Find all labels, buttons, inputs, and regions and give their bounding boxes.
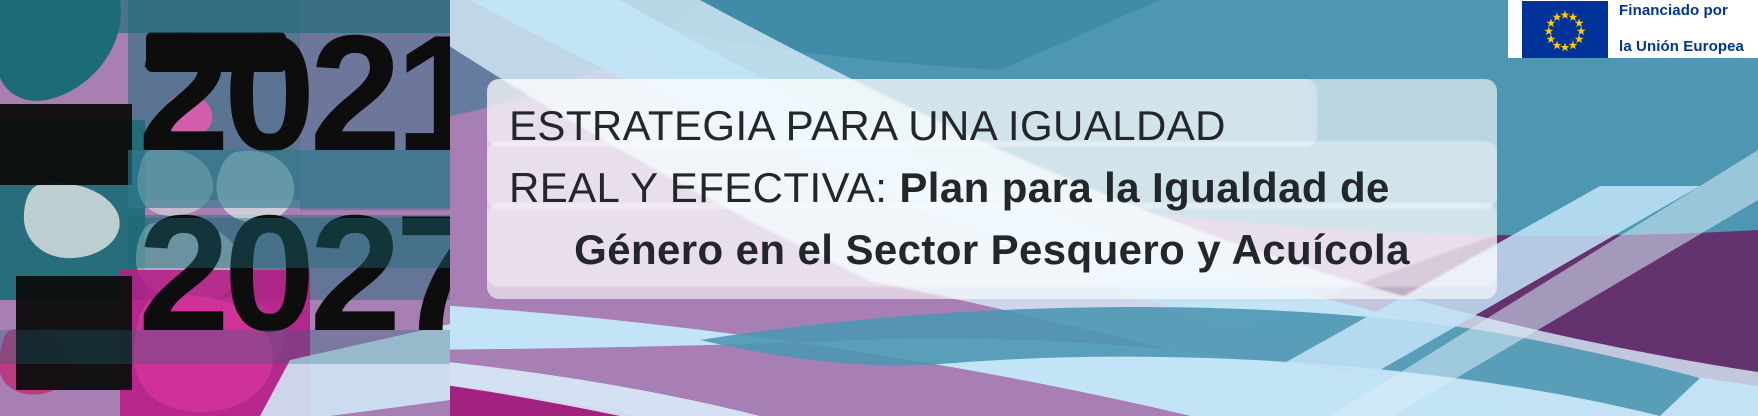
eu-funding-line-1: Financiado por [1619, 2, 1744, 20]
eu-funding-text: Financiado por la Unión Europea [1619, 0, 1744, 74]
title-line-3: Género en el Sector Pesquero y Acuícola [509, 219, 1475, 281]
eu-funding-line-2: la Unión Europea [1619, 38, 1744, 56]
eu-funding-logo: Financiado por la Unión Europea [1508, 0, 1758, 58]
title-line-1: ESTRATEGIA PARA UNA IGUALDAD [509, 95, 1475, 157]
eu-flag-icon [1522, 1, 1608, 58]
photo-collage: 2021 2027 [0, 0, 450, 416]
title-line-2-thin: REAL Y EFECTIVA: [509, 164, 899, 211]
title-line-2-bold: Plan para la Igualdad de [899, 164, 1389, 211]
title-line-2: REAL Y EFECTIVA: Plan para la Igualdad d… [509, 157, 1475, 219]
banner-title-panel: ESTRATEGIA PARA UNA IGUALDAD REAL Y EFEC… [487, 79, 1497, 299]
campaign-banner: 2021 2027 [0, 0, 1758, 416]
